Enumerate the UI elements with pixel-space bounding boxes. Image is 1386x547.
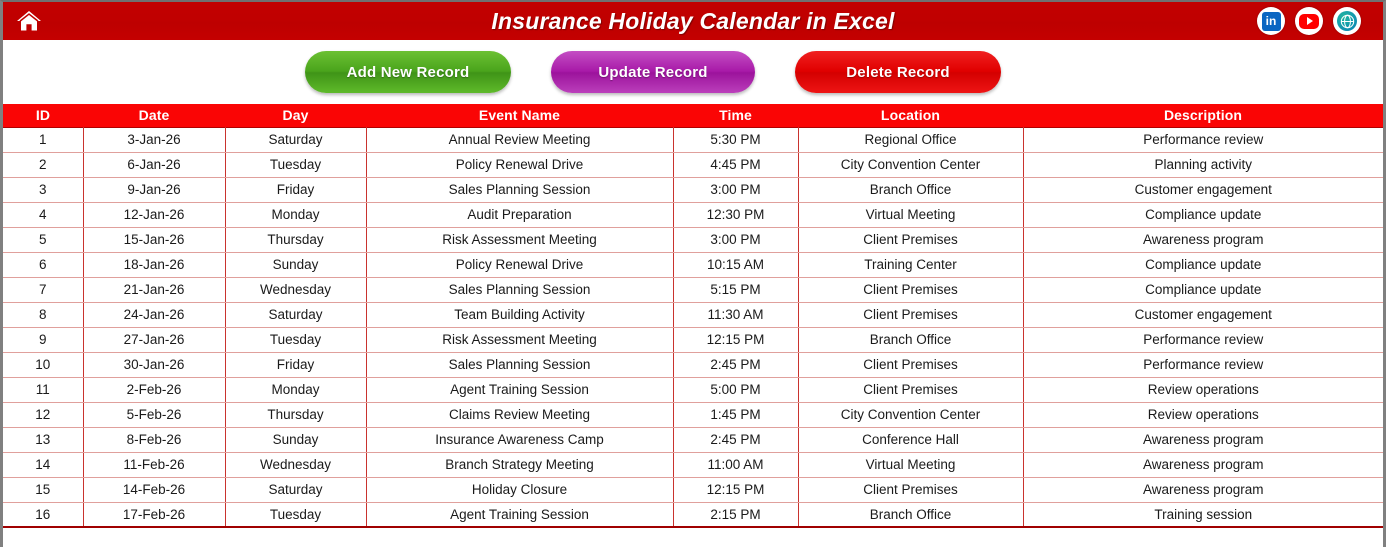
cell-day[interactable]: Wednesday bbox=[225, 452, 366, 477]
cell-description[interactable]: Performance review bbox=[1023, 127, 1383, 152]
cell-id[interactable]: 13 bbox=[3, 427, 83, 452]
title-bar: Insurance Holiday Calendar in Excel in bbox=[3, 2, 1383, 40]
table-row[interactable]: 112-Feb-26MondayAgent Training Session5:… bbox=[3, 377, 1383, 402]
cell-day[interactable]: Saturday bbox=[225, 127, 366, 152]
cell-event-name[interactable]: Audit Preparation bbox=[366, 202, 673, 227]
delete-record-button[interactable]: Delete Record bbox=[795, 51, 1001, 93]
social-links: in bbox=[1257, 7, 1361, 35]
column-header-time[interactable]: Time bbox=[673, 104, 798, 127]
cell-description[interactable]: Compliance update bbox=[1023, 202, 1383, 227]
cell-description[interactable]: Planning activity bbox=[1023, 152, 1383, 177]
page-title: Insurance Holiday Calendar in Excel bbox=[3, 8, 1383, 35]
cell-day[interactable]: Tuesday bbox=[225, 152, 366, 177]
cell-id[interactable]: 16 bbox=[3, 502, 83, 527]
table-row[interactable]: 125-Feb-26ThursdayClaims Review Meeting1… bbox=[3, 402, 1383, 427]
cell-date[interactable]: 27-Jan-26 bbox=[83, 327, 225, 352]
cell-time[interactable]: 5:30 PM bbox=[673, 127, 798, 152]
cell-date[interactable]: 17-Feb-26 bbox=[83, 502, 225, 527]
table-row[interactable]: 26-Jan-26TuesdayPolicy Renewal Drive4:45… bbox=[3, 152, 1383, 177]
update-record-button[interactable]: Update Record bbox=[551, 51, 755, 93]
cell-id[interactable]: 5 bbox=[3, 227, 83, 252]
table-row[interactable]: 1514-Feb-26SaturdayHoliday Closure12:15 … bbox=[3, 477, 1383, 502]
youtube-play-triangle bbox=[1307, 17, 1313, 25]
cell-day[interactable]: Monday bbox=[225, 202, 366, 227]
column-header-description[interactable]: Description bbox=[1023, 104, 1383, 127]
table-bottom-spacer bbox=[3, 528, 1383, 547]
cell-date[interactable]: 3-Jan-26 bbox=[83, 127, 225, 152]
cell-time[interactable]: 2:15 PM bbox=[673, 502, 798, 527]
cell-location[interactable]: Branch Office bbox=[798, 502, 1023, 527]
table-row[interactable]: 721-Jan-26WednesdaySales Planning Sessio… bbox=[3, 277, 1383, 302]
cell-event-name[interactable]: Risk Assessment Meeting bbox=[366, 227, 673, 252]
cell-location[interactable]: Training Center bbox=[798, 252, 1023, 277]
cell-date[interactable]: 8-Feb-26 bbox=[83, 427, 225, 452]
table-header-row: ID Date Day Event Name Time Location Des… bbox=[3, 104, 1383, 127]
records-table: ID Date Day Event Name Time Location Des… bbox=[3, 104, 1383, 528]
cell-location[interactable]: Client Premises bbox=[798, 352, 1023, 377]
cell-description[interactable]: Awareness program bbox=[1023, 452, 1383, 477]
cell-description[interactable]: Performance review bbox=[1023, 327, 1383, 352]
table-row[interactable]: 412-Jan-26MondayAudit Preparation12:30 P… bbox=[3, 202, 1383, 227]
table-row[interactable]: 1617-Feb-26TuesdayAgent Training Session… bbox=[3, 502, 1383, 527]
cell-location[interactable]: Conference Hall bbox=[798, 427, 1023, 452]
table-row[interactable]: 13-Jan-26SaturdayAnnual Review Meeting5:… bbox=[3, 127, 1383, 152]
cell-location[interactable]: City Convention Center bbox=[798, 402, 1023, 427]
cell-date[interactable]: 12-Jan-26 bbox=[83, 202, 225, 227]
cell-location[interactable]: Branch Office bbox=[798, 177, 1023, 202]
cell-description[interactable]: Awareness program bbox=[1023, 427, 1383, 452]
table-row[interactable]: 1411-Feb-26WednesdayBranch Strategy Meet… bbox=[3, 452, 1383, 477]
cell-date[interactable]: 15-Jan-26 bbox=[83, 227, 225, 252]
globe-glyph bbox=[1337, 11, 1357, 31]
cell-day[interactable]: Sunday bbox=[225, 427, 366, 452]
add-new-record-button[interactable]: Add New Record bbox=[305, 51, 511, 93]
table-body: 13-Jan-26SaturdayAnnual Review Meeting5:… bbox=[3, 127, 1383, 527]
linkedin-glyph: in bbox=[1262, 12, 1281, 31]
table-row[interactable]: 39-Jan-26FridaySales Planning Session3:0… bbox=[3, 177, 1383, 202]
cell-time[interactable]: 10:15 AM bbox=[673, 252, 798, 277]
cell-event-name[interactable]: Claims Review Meeting bbox=[366, 402, 673, 427]
table-header: ID Date Day Event Name Time Location Des… bbox=[3, 104, 1383, 127]
cell-id[interactable]: 6 bbox=[3, 252, 83, 277]
cell-time[interactable]: 5:15 PM bbox=[673, 277, 798, 302]
cell-location[interactable]: Client Premises bbox=[798, 377, 1023, 402]
cell-description[interactable]: Compliance update bbox=[1023, 277, 1383, 302]
cell-time[interactable]: 11:30 AM bbox=[673, 302, 798, 327]
cell-id[interactable]: 7 bbox=[3, 277, 83, 302]
cell-day[interactable]: Saturday bbox=[225, 302, 366, 327]
cell-time[interactable]: 2:45 PM bbox=[673, 427, 798, 452]
cell-time[interactable]: 12:15 PM bbox=[673, 477, 798, 502]
column-header-date[interactable]: Date bbox=[83, 104, 225, 127]
cell-id[interactable]: 14 bbox=[3, 452, 83, 477]
cell-time[interactable]: 3:00 PM bbox=[673, 177, 798, 202]
cell-location[interactable]: Client Premises bbox=[798, 302, 1023, 327]
cell-date[interactable]: 30-Jan-26 bbox=[83, 352, 225, 377]
cell-day[interactable]: Thursday bbox=[225, 227, 366, 252]
cell-time[interactable]: 1:45 PM bbox=[673, 402, 798, 427]
cell-time[interactable]: 2:45 PM bbox=[673, 352, 798, 377]
table-row[interactable]: 927-Jan-26TuesdayRisk Assessment Meeting… bbox=[3, 327, 1383, 352]
cell-id[interactable]: 10 bbox=[3, 352, 83, 377]
cell-id[interactable]: 9 bbox=[3, 327, 83, 352]
cell-description[interactable]: Review operations bbox=[1023, 402, 1383, 427]
cell-location[interactable]: Client Premises bbox=[798, 477, 1023, 502]
column-header-location[interactable]: Location bbox=[798, 104, 1023, 127]
cell-location[interactable]: Virtual Meeting bbox=[798, 202, 1023, 227]
cell-time[interactable]: 4:45 PM bbox=[673, 152, 798, 177]
cell-event-name[interactable]: Sales Planning Session bbox=[366, 177, 673, 202]
cell-time[interactable]: 11:00 AM bbox=[673, 452, 798, 477]
cell-date[interactable]: 11-Feb-26 bbox=[83, 452, 225, 477]
cell-time[interactable]: 5:00 PM bbox=[673, 377, 798, 402]
cell-location[interactable]: Client Premises bbox=[798, 227, 1023, 252]
cell-id[interactable]: 8 bbox=[3, 302, 83, 327]
cell-day[interactable]: Tuesday bbox=[225, 502, 366, 527]
cell-time[interactable]: 3:00 PM bbox=[673, 227, 798, 252]
cell-description[interactable]: Compliance update bbox=[1023, 252, 1383, 277]
cell-date[interactable]: 9-Jan-26 bbox=[83, 177, 225, 202]
table-row[interactable]: 618-Jan-26SundayPolicy Renewal Drive10:1… bbox=[3, 252, 1383, 277]
table-row[interactable]: 1030-Jan-26FridaySales Planning Session2… bbox=[3, 352, 1383, 377]
cell-event-name[interactable]: Branch Strategy Meeting bbox=[366, 452, 673, 477]
cell-date[interactable]: 5-Feb-26 bbox=[83, 402, 225, 427]
cell-event-name[interactable]: Holiday Closure bbox=[366, 477, 673, 502]
cell-id[interactable]: 3 bbox=[3, 177, 83, 202]
cell-id[interactable]: 2 bbox=[3, 152, 83, 177]
cell-location[interactable]: Virtual Meeting bbox=[798, 452, 1023, 477]
cell-event-name[interactable]: Team Building Activity bbox=[366, 302, 673, 327]
record-action-toolbar: Add New Record Update Record Delete Reco… bbox=[3, 40, 1383, 104]
home-icon[interactable] bbox=[11, 6, 47, 36]
youtube-icon[interactable] bbox=[1295, 7, 1323, 35]
cell-event-name[interactable]: Insurance Awareness Camp bbox=[366, 427, 673, 452]
cell-event-name[interactable]: Risk Assessment Meeting bbox=[366, 327, 673, 352]
cell-time[interactable]: 12:15 PM bbox=[673, 327, 798, 352]
cell-day[interactable]: Friday bbox=[225, 177, 366, 202]
cell-description[interactable]: Customer engagement bbox=[1023, 177, 1383, 202]
table-row[interactable]: 515-Jan-26ThursdayRisk Assessment Meetin… bbox=[3, 227, 1383, 252]
cell-id[interactable]: 4 bbox=[3, 202, 83, 227]
cell-day[interactable]: Monday bbox=[225, 377, 366, 402]
table-row[interactable]: 824-Jan-26SaturdayTeam Building Activity… bbox=[3, 302, 1383, 327]
cell-event-name[interactable]: Agent Training Session bbox=[366, 502, 673, 527]
cell-event-name[interactable]: Sales Planning Session bbox=[366, 352, 673, 377]
cell-date[interactable]: 21-Jan-26 bbox=[83, 277, 225, 302]
cell-date[interactable]: 14-Feb-26 bbox=[83, 477, 225, 502]
youtube-glyph bbox=[1299, 14, 1319, 29]
cell-id[interactable]: 1 bbox=[3, 127, 83, 152]
cell-event-name[interactable]: Agent Training Session bbox=[366, 377, 673, 402]
linkedin-icon[interactable]: in bbox=[1257, 7, 1285, 35]
cell-day[interactable]: Wednesday bbox=[225, 277, 366, 302]
cell-day[interactable]: Saturday bbox=[225, 477, 366, 502]
cell-event-name[interactable]: Policy Renewal Drive bbox=[366, 152, 673, 177]
cell-id[interactable]: 15 bbox=[3, 477, 83, 502]
cell-location[interactable]: Branch Office bbox=[798, 327, 1023, 352]
cell-date[interactable]: 6-Jan-26 bbox=[83, 152, 225, 177]
cell-day[interactable]: Tuesday bbox=[225, 327, 366, 352]
cell-description[interactable]: Awareness program bbox=[1023, 227, 1383, 252]
app-window: Insurance Holiday Calendar in Excel in bbox=[0, 0, 1386, 547]
cell-time[interactable]: 12:30 PM bbox=[673, 202, 798, 227]
cell-event-name[interactable]: Annual Review Meeting bbox=[366, 127, 673, 152]
cell-event-name[interactable]: Sales Planning Session bbox=[366, 277, 673, 302]
cell-description[interactable]: Awareness program bbox=[1023, 477, 1383, 502]
cell-date[interactable]: 2-Feb-26 bbox=[83, 377, 225, 402]
cell-day[interactable]: Friday bbox=[225, 352, 366, 377]
cell-location[interactable]: Regional Office bbox=[798, 127, 1023, 152]
cell-event-name[interactable]: Policy Renewal Drive bbox=[366, 252, 673, 277]
cell-date[interactable]: 24-Jan-26 bbox=[83, 302, 225, 327]
cell-description[interactable]: Training session bbox=[1023, 502, 1383, 527]
column-header-event-name[interactable]: Event Name bbox=[366, 104, 673, 127]
website-globe-icon[interactable] bbox=[1333, 7, 1361, 35]
cell-id[interactable]: 12 bbox=[3, 402, 83, 427]
cell-description[interactable]: Performance review bbox=[1023, 352, 1383, 377]
cell-description[interactable]: Customer engagement bbox=[1023, 302, 1383, 327]
cell-id[interactable]: 11 bbox=[3, 377, 83, 402]
column-header-id[interactable]: ID bbox=[3, 104, 83, 127]
records-table-container: ID Date Day Event Name Time Location Des… bbox=[3, 104, 1383, 528]
cell-location[interactable]: Client Premises bbox=[798, 277, 1023, 302]
table-row[interactable]: 138-Feb-26SundayInsurance Awareness Camp… bbox=[3, 427, 1383, 452]
column-header-day[interactable]: Day bbox=[225, 104, 366, 127]
cell-date[interactable]: 18-Jan-26 bbox=[83, 252, 225, 277]
cell-day[interactable]: Sunday bbox=[225, 252, 366, 277]
cell-day[interactable]: Thursday bbox=[225, 402, 366, 427]
cell-description[interactable]: Review operations bbox=[1023, 377, 1383, 402]
cell-location[interactable]: City Convention Center bbox=[798, 152, 1023, 177]
